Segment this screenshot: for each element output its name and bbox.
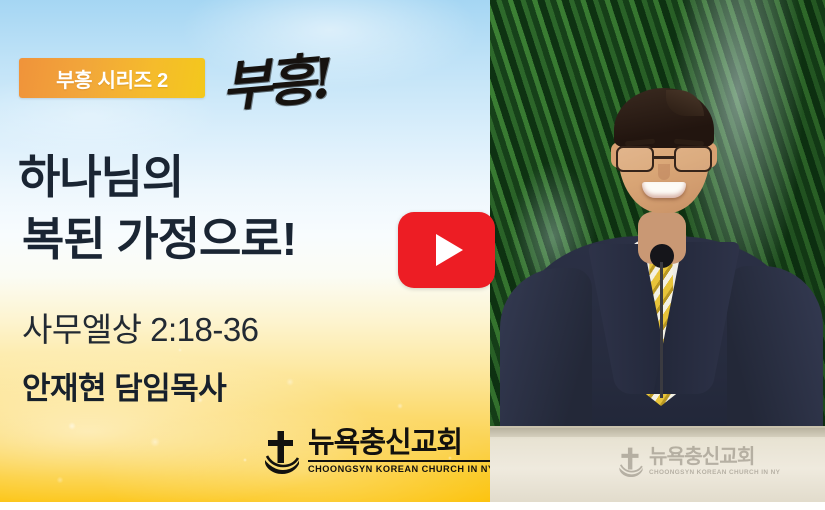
sermon-title-line-2: 복된 가정으로! bbox=[22, 208, 422, 270]
lens-left bbox=[616, 146, 654, 172]
watermark-text: 뉴욕충신교회 CHOONGSYN KOREAN CHURCH IN NY bbox=[649, 447, 780, 476]
cross-and-boat-icon bbox=[618, 446, 644, 478]
church-name-korean: 뉴욕충신교회 bbox=[308, 429, 495, 462]
scripture-reference: 사무엘상 2:18-36 bbox=[22, 303, 259, 351]
nose bbox=[658, 164, 670, 180]
pulpit-edge bbox=[490, 428, 825, 437]
church-name-english: CHOONGSYN KOREAN CHURCH IN NY bbox=[308, 465, 495, 474]
speaker-name: 안재현 담임목사 bbox=[22, 363, 226, 408]
video-thumbnail[interactable]: 부흥 시리즈 2 부흥! 하나님의 복된 가정으로! 사무엘상 2:18-36 … bbox=[0, 0, 825, 510]
cross-and-boat-icon bbox=[263, 429, 301, 475]
series-badge-label: 부흥 시리즈 2 bbox=[56, 64, 168, 93]
pulpit-watermark-logo: 뉴욕충신교회 CHOONGSYN KOREAN CHURCH IN NY bbox=[618, 446, 780, 478]
play-triangle-icon bbox=[436, 234, 463, 266]
smiling-mouth bbox=[642, 182, 686, 198]
sermon-title-line-1: 하나님의 bbox=[18, 146, 418, 208]
bottom-strip bbox=[0, 502, 825, 510]
play-button[interactable] bbox=[398, 212, 495, 288]
watermark-name-korean: 뉴욕충신교회 bbox=[649, 447, 780, 467]
watermark-name-english: CHOONGSYN KOREAN CHURCH IN NY bbox=[649, 470, 780, 476]
series-badge: 부흥 시리즈 2 bbox=[19, 58, 205, 98]
calligraphy-revival: 부흥! bbox=[219, 38, 366, 132]
sparkle-texture bbox=[0, 330, 490, 502]
church-logo-text: 뉴욕충신교회 CHOONGSYN KOREAN CHURCH IN NY bbox=[308, 429, 495, 474]
hair bbox=[614, 88, 714, 148]
lens-right bbox=[674, 146, 712, 172]
pulpit: 뉴욕충신교회 CHOONGSYN KOREAN CHURCH IN NY bbox=[490, 426, 825, 502]
microphone-stem bbox=[660, 262, 663, 398]
glasses-bridge bbox=[654, 156, 674, 159]
video-preview[interactable]: 뉴욕충신교회 CHOONGSYN KOREAN CHURCH IN NY bbox=[490, 0, 825, 502]
church-logo: 뉴욕충신교회 CHOONGSYN KOREAN CHURCH IN NY bbox=[263, 429, 495, 475]
page-title: 하나님의 복된 가정으로! bbox=[18, 146, 418, 270]
